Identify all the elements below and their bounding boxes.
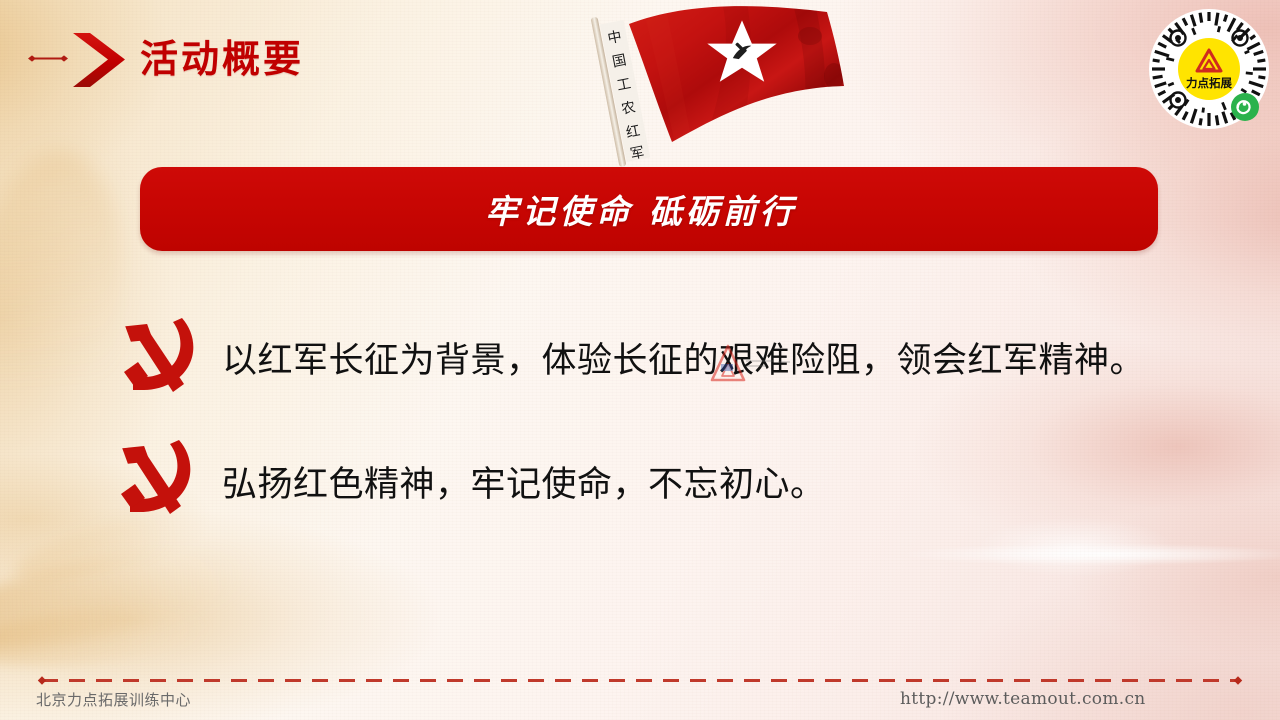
slide-footer: 北京力点拓展训练中心 http://www.teamout.com.cn <box>0 662 1280 720</box>
headline-banner: 牢记使命 砥砺前行 <box>140 167 1158 251</box>
red-chevron-arrow-icon <box>70 33 128 87</box>
footer-dashed-rule <box>34 676 1246 685</box>
bullet-text: 弘扬红色精神，牢记使命，不忘初心。 <box>222 456 826 507</box>
slide-canvas: 活动概要 <box>0 0 1280 720</box>
red-dash-diamond-icon <box>28 55 68 62</box>
red-army-flag-image: 中 国 工 农 红 军 <box>572 2 862 167</box>
svg-text:军: 军 <box>629 145 646 163</box>
svg-text:中: 中 <box>606 29 623 47</box>
qr-center-label: 力点拓展 <box>1186 76 1232 90</box>
svg-text:农: 农 <box>620 99 637 117</box>
banner-text: 牢记使命 砥砺前行 <box>485 185 797 233</box>
bullet-item: 以红军长征为背景，体验长征的艰难险阻，领会红军精神。 <box>0 300 1280 410</box>
bullet-text: 以红军长征为背景，体验长征的艰难险阻，领会红军精神。 <box>222 332 1145 383</box>
page-title: 活动概要 <box>140 28 304 83</box>
wechat-miniprogram-badge <box>1231 93 1259 121</box>
title-arrow-group <box>26 33 130 87</box>
bullet-list: 以红军长征为背景，体验长征的艰难险阻，领会红军精神。 弘扬红色精神，牢记使命，不… <box>0 300 1280 520</box>
hammer-and-sickle-icon <box>118 314 204 396</box>
bullet-item: 弘扬红色精神，牢记使命，不忘初心。 <box>0 410 1280 520</box>
background-swirl-a <box>0 529 264 669</box>
svg-text:工: 工 <box>616 76 633 94</box>
wechat-miniprogram-qr-logo[interactable]: 力点拓展 <box>1148 8 1270 130</box>
footer-website-url[interactable]: http://www.teamout.com.cn <box>900 689 1146 709</box>
hammer-and-sickle-icon <box>115 436 201 518</box>
footer-company-name: 北京力点拓展训练中心 <box>36 689 191 710</box>
svg-text:国: 国 <box>611 52 628 70</box>
svg-text:红: 红 <box>625 123 642 141</box>
